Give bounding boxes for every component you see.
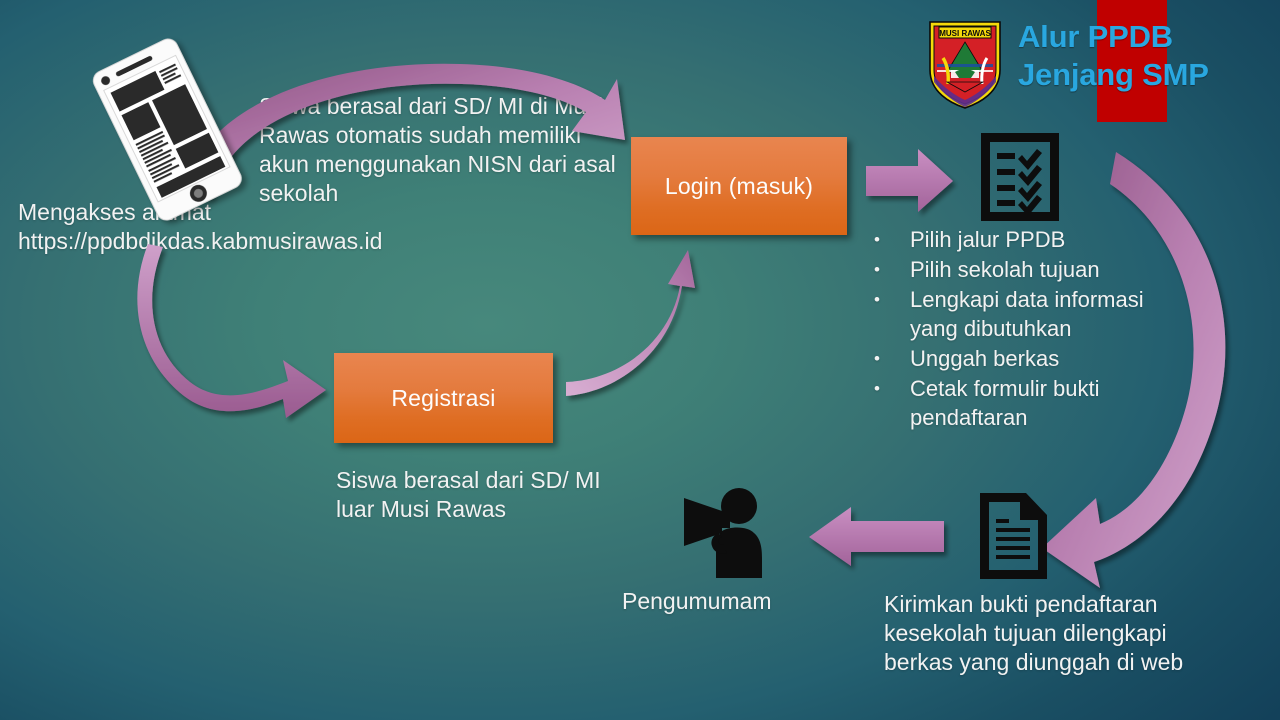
- slide-canvas: Login (masuk) Registrasi: [0, 0, 1280, 720]
- page-title-line1: Alur PPDB: [1018, 18, 1268, 56]
- document-page-icon: [980, 493, 1047, 579]
- page-title: Alur PPDB Jenjang SMP: [1018, 18, 1268, 94]
- musi-rawas-regency-emblem: MUSI RAWAS: [925, 18, 1005, 110]
- person-megaphone-announcement-icon: [684, 488, 762, 578]
- icon-layer: [0, 0, 1280, 720]
- smartphone-webpage-icon: [90, 36, 245, 224]
- page-title-line2: Jenjang SMP: [1018, 56, 1268, 94]
- checklist-clipboard-icon: [981, 133, 1059, 221]
- emblem-banner-text: MUSI RAWAS: [939, 29, 991, 38]
